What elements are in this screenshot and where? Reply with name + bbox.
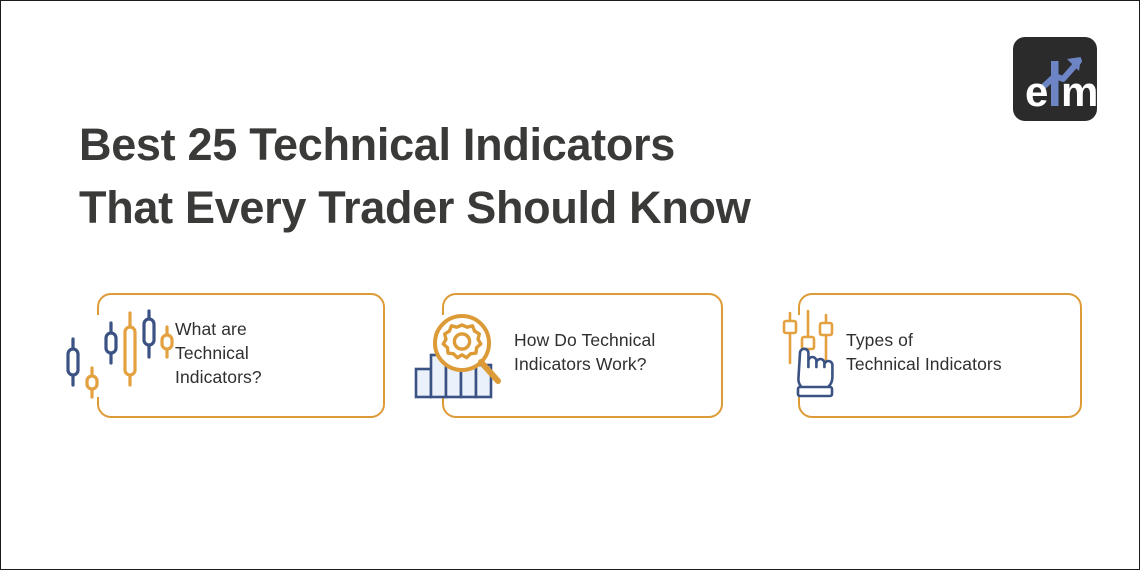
card-label: What are Technical Indicators? xyxy=(175,317,262,389)
card-label-line-2: Technical Indicators xyxy=(846,352,1002,376)
page-title: Best 25 Technical Indicators That Every … xyxy=(79,113,979,239)
card-label-line-2: Indicators Work? xyxy=(514,352,655,376)
card-label-line-1: How Do Technical xyxy=(514,328,655,352)
candle-4 xyxy=(125,313,135,385)
elm-logo[interactable]: e m xyxy=(1013,37,1097,121)
candle-2 xyxy=(87,368,97,397)
bar-chart-magnifier-gear-icon xyxy=(412,307,512,408)
elm-logo-mark: e m xyxy=(1013,37,1097,121)
logo-letter-l xyxy=(1051,61,1059,106)
topic-card-how-do-technical-indicators-work[interactable]: How Do Technical Indicators Work? xyxy=(442,293,723,418)
card-label: Types of Technical Indicators xyxy=(846,328,1002,376)
card-label-line-1: Types of xyxy=(846,328,1002,352)
candle-5 xyxy=(144,311,154,357)
card-label: How Do Technical Indicators Work? xyxy=(514,328,655,376)
topic-card-types-of-technical-indicators[interactable]: Types of Technical Indicators xyxy=(798,293,1082,418)
page-title-line-2: That Every Trader Should Know xyxy=(79,176,979,239)
candle-6 xyxy=(162,327,172,357)
candle-3 xyxy=(106,323,116,363)
card-label-line-3: Indicators? xyxy=(175,365,262,389)
candle-1 xyxy=(68,339,78,385)
topic-card-row: What are Technical Indicators? xyxy=(1,293,1140,423)
logo-letter-e: e xyxy=(1025,68,1048,115)
sliders-hand-pointer-icon xyxy=(774,307,850,408)
banner-canvas: e m Best 25 Technical Indicators That Ev… xyxy=(0,0,1140,570)
candlestick-chart-icon xyxy=(59,305,174,410)
card-label-line-2: Technical xyxy=(175,341,262,365)
card-label-line-1: What are xyxy=(175,317,262,341)
page-title-line-1: Best 25 Technical Indicators xyxy=(79,113,979,176)
logo-letter-m: m xyxy=(1061,68,1097,115)
topic-card-what-are-technical-indicators[interactable]: What are Technical Indicators? xyxy=(97,293,385,418)
